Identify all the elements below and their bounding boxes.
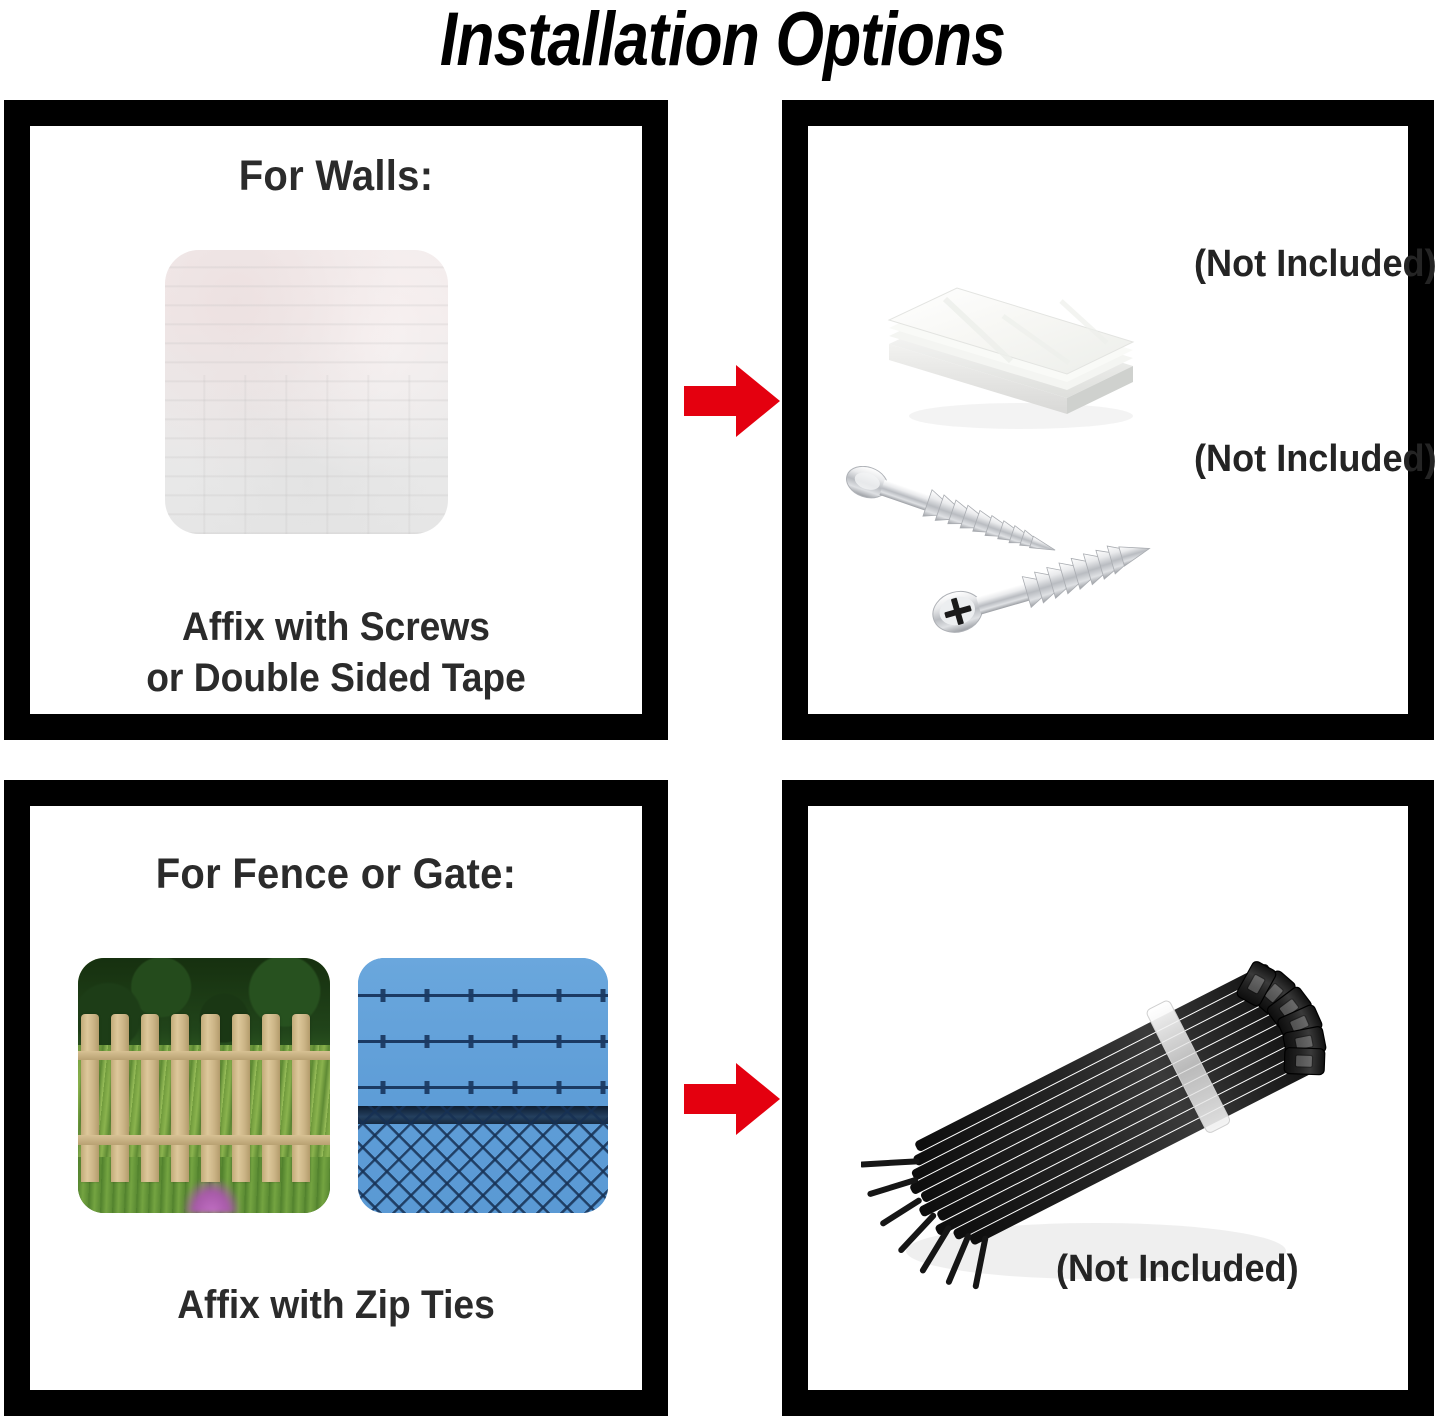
walls-heading: For Walls: <box>51 152 620 201</box>
panel-wall-hardware: (Not Included) <box>782 100 1434 740</box>
double-sided-tape-image <box>871 248 1141 433</box>
panel-zip-ties: (Not Included) <box>782 780 1434 1416</box>
right-arrow-icon <box>684 1060 780 1138</box>
brick-wall-image <box>165 250 448 534</box>
screws-not-included-label: (Not Included) <box>1194 438 1437 481</box>
wooden-fence-photo <box>78 958 330 1213</box>
screw-image-lower <box>931 542 1167 638</box>
walls-caption-line1: Affix with Screws <box>51 602 620 653</box>
right-arrow-icon <box>684 362 780 440</box>
panel-for-fence-or-gate: For Fence or Gate: <box>4 780 668 1416</box>
installation-options-infographic: Installation Options For Walls: Affix wi… <box>0 0 1445 1422</box>
panel-for-walls: For Walls: Affix with Screws or Double S… <box>4 100 668 740</box>
page-title: Installation Options <box>130 0 1315 83</box>
walls-caption-line2: or Double Sided Tape <box>51 653 620 704</box>
fence-caption: Affix with Zip Ties <box>51 1280 620 1331</box>
fence-heading: For Fence or Gate: <box>51 850 620 899</box>
chain-link-fence-photo <box>358 958 608 1213</box>
tape-not-included-label: (Not Included) <box>1194 243 1437 286</box>
zipties-not-included-label: (Not Included) <box>1056 1248 1299 1291</box>
walls-caption: Affix with Screws or Double Sided Tape <box>51 602 620 704</box>
